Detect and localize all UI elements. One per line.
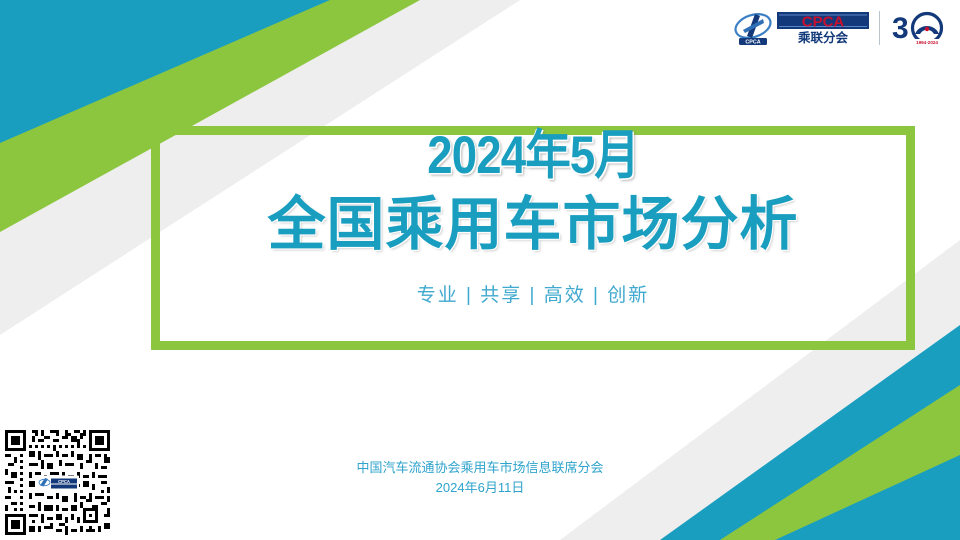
cpca-cn-text: 乘联分会 bbox=[797, 30, 849, 45]
cpca-logo: CPCA CPCA 乘联分会 bbox=[733, 10, 869, 46]
qr-center-logo: CPCA bbox=[37, 475, 79, 490]
header-logo-bar: CPCA CPCA 乘联分会 3 1994-2024 bbox=[733, 8, 946, 48]
footer-date: 2024年6月11日 bbox=[0, 478, 960, 498]
slide-title-subject: 全国乘用车市场分析 bbox=[267, 192, 798, 259]
slide-tagline: 专业 | 共享 | 高效 | 创新 bbox=[417, 280, 649, 307]
slide-canvas: CPCA CPCA 乘联分会 3 1994-2024 2024年5月 全国 bbox=[0, 0, 960, 540]
qr-code[interactable]: CPCA bbox=[2, 427, 113, 538]
slide-footer: 中国汽车流通协会乘用车市场信息联席分会 2024年6月11日 bbox=[0, 458, 960, 498]
top-left-teal-band bbox=[0, 0, 330, 143]
cpca-abbr-text: CPCA bbox=[802, 14, 845, 31]
anniversary-years-text: 1994-2024 bbox=[916, 40, 938, 45]
anniversary-number-text: 3 bbox=[892, 12, 909, 45]
footer-organization: 中国汽车流通协会乘用车市场信息联席分会 bbox=[0, 458, 960, 478]
cpca-swoosh-icon: CPCA bbox=[733, 10, 773, 46]
anniversary-30-logo: 3 1994-2024 bbox=[890, 8, 946, 48]
slide-title-year-month: 2024年5月 bbox=[427, 128, 639, 184]
qr-center-label: CPCA bbox=[58, 478, 70, 483]
svg-text:CPCA: CPCA bbox=[745, 40, 760, 46]
cpca-wordmark: CPCA 乘联分会 bbox=[777, 10, 869, 46]
logo-divider bbox=[879, 11, 880, 45]
qr-cpca-badge-icon: CPCA bbox=[38, 476, 78, 489]
title-block: 2024年5月 全国乘用车市场分析 专业 | 共享 | 高效 | 创新 bbox=[151, 126, 915, 350]
bottom-right-teal-band-upper bbox=[660, 325, 960, 540]
